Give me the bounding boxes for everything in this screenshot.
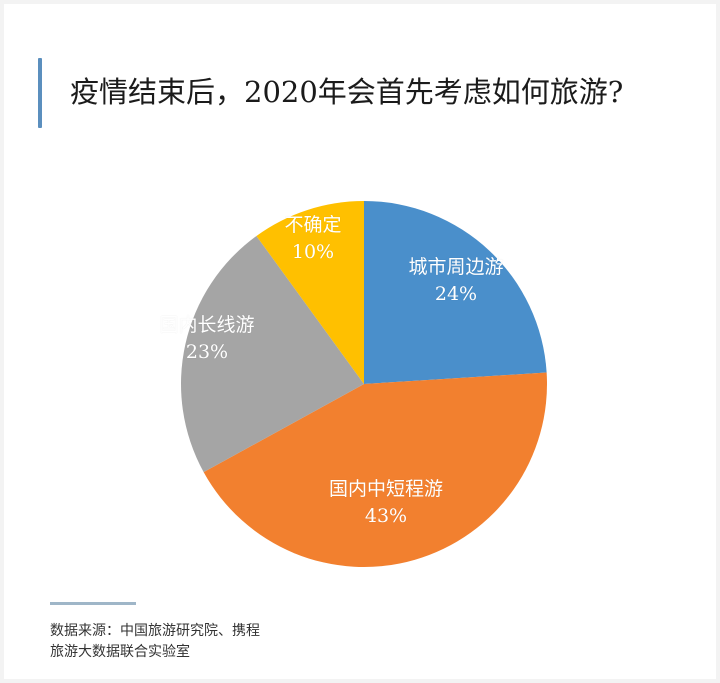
- source-footer: 数据来源：中国旅游研究院、携程 旅游大数据联合实验室: [50, 602, 570, 663]
- pie-chart-svg: [4, 154, 716, 584]
- title-text: 疫情结束后，2020年会首先考虑如何旅游?: [70, 56, 670, 128]
- pie-chart: 城市周边游 24% 国内中短程游 43% 国内长线游 23% 不确定 10%: [4, 154, 716, 584]
- source-line-1: 数据来源：中国旅游研究院、携程: [50, 621, 570, 642]
- infographic-page: 疫情结束后，2020年会首先考虑如何旅游? 城市周边游 24% 国内中短程游 4…: [0, 0, 720, 683]
- page-title: 疫情结束后，2020年会首先考虑如何旅游?: [38, 56, 678, 134]
- title-accent-bar: [38, 58, 42, 128]
- pie-slice-city[interactable]: [364, 201, 547, 384]
- chart-card: 疫情结束后，2020年会首先考虑如何旅游? 城市周边游 24% 国内中短程游 4…: [4, 4, 716, 679]
- source-line-2: 旅游大数据联合实验室: [50, 642, 570, 663]
- footer-rule: [50, 602, 136, 605]
